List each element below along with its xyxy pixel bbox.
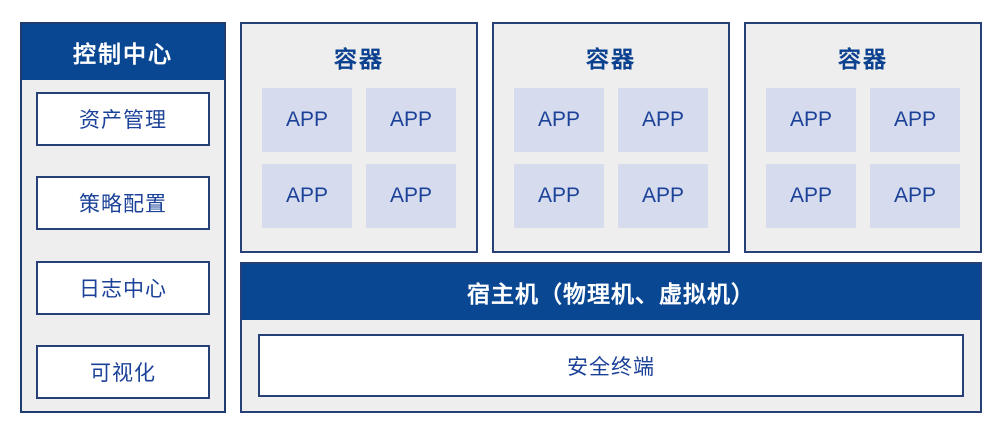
container-panel-2-app-grid: APP APP APP APP (494, 88, 728, 246)
container-panel-3: 容器 APP APP APP APP (744, 22, 982, 253)
security-endpoint-box[interactable]: 安全终端 (258, 334, 964, 397)
app-box[interactable]: APP (618, 164, 708, 228)
host-machine-panel: 宿主机（物理机、虚拟机） 安全终端 (240, 262, 982, 413)
control-center-item-log-center[interactable]: 日志中心 (36, 261, 210, 315)
control-center-title: 控制中心 (22, 24, 224, 80)
app-box[interactable]: APP (870, 164, 960, 228)
control-center-item-policy-configuration[interactable]: 策略配置 (36, 176, 210, 230)
control-center-item-visualization[interactable]: 可视化 (36, 345, 210, 399)
app-box[interactable]: APP (514, 88, 604, 152)
app-box[interactable]: APP (366, 88, 456, 152)
diagram-canvas: 控制中心 资产管理 策略配置 日志中心 可视化 容器 APP APP APP A… (0, 0, 1001, 437)
control-center-item-list: 资产管理 策略配置 日志中心 可视化 (22, 80, 224, 411)
host-machine-body: 安全终端 (242, 320, 980, 411)
control-center-item-asset-management[interactable]: 资产管理 (36, 92, 210, 146)
app-box[interactable]: APP (618, 88, 708, 152)
container-panel-1-app-grid: APP APP APP APP (242, 88, 476, 246)
container-panel-2: 容器 APP APP APP APP (492, 22, 730, 253)
app-box[interactable]: APP (766, 88, 856, 152)
container-panel-3-title: 容器 (746, 40, 980, 74)
container-panel-2-title: 容器 (494, 40, 728, 74)
container-panel-1-title: 容器 (242, 40, 476, 74)
app-box[interactable]: APP (262, 164, 352, 228)
app-box[interactable]: APP (366, 164, 456, 228)
app-box[interactable]: APP (514, 164, 604, 228)
control-center-panel: 控制中心 资产管理 策略配置 日志中心 可视化 (20, 22, 226, 413)
host-machine-title: 宿主机（物理机、虚拟机） (242, 264, 980, 320)
app-box[interactable]: APP (262, 88, 352, 152)
container-panel-1: 容器 APP APP APP APP (240, 22, 478, 253)
app-box[interactable]: APP (870, 88, 960, 152)
container-panel-3-app-grid: APP APP APP APP (746, 88, 980, 246)
app-box[interactable]: APP (766, 164, 856, 228)
